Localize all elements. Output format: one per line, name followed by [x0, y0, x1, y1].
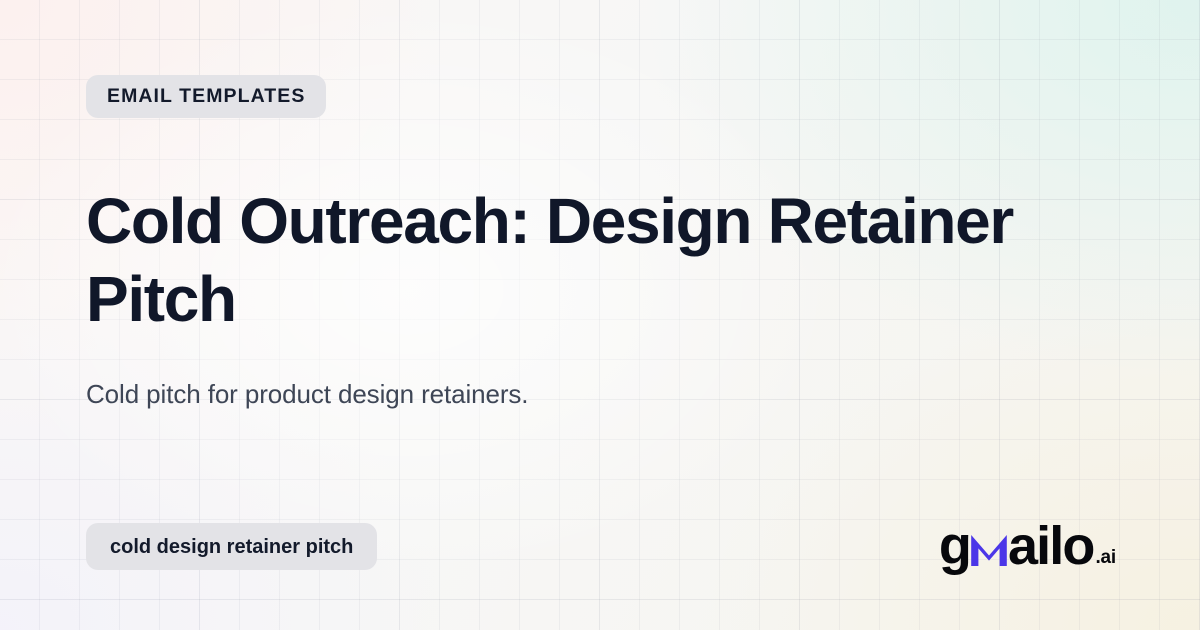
m-envelope-icon: [969, 528, 1009, 567]
eyebrow-badge: EMAIL TEMPLATES: [86, 75, 326, 118]
eyebrow-label: EMAIL TEMPLATES: [107, 87, 305, 107]
og-card: EMAIL TEMPLATES Cold Outreach: Design Re…: [0, 0, 1200, 630]
brand-logo: g ailo .ai: [939, 515, 1116, 573]
brand-logo-wordmark: g ailo: [939, 519, 1094, 573]
tag-badge: cold design retainer pitch: [86, 523, 377, 570]
card-content: EMAIL TEMPLATES Cold Outreach: Design Re…: [0, 0, 1200, 630]
brand-logo-tld: .ai: [1095, 548, 1116, 567]
page-title: Cold Outreach: Design Retainer Pitch: [86, 183, 1016, 339]
page-subtitle: Cold pitch for product design retainers.: [86, 376, 986, 412]
tag-label: cold design retainer pitch: [110, 537, 353, 557]
brand-logo-suffix-word: ailo: [1008, 519, 1093, 573]
brand-logo-prefix: g: [939, 519, 970, 573]
